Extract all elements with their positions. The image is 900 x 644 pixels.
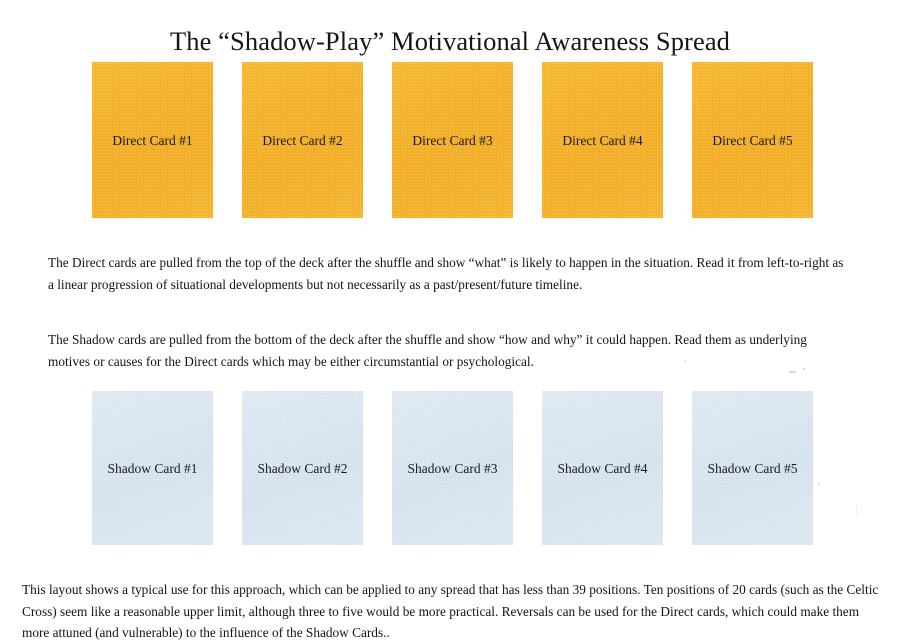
direct-card-3[interactable]: Direct Card #3	[392, 62, 513, 218]
direct-card-5[interactable]: Direct Card #5	[692, 62, 813, 218]
shadow-card-1-label: Shadow Card #1	[108, 460, 198, 477]
document-page: The “Shadow-Play” Motivational Awareness…	[0, 0, 900, 638]
layout-usage-note: This layout shows a typical use for this…	[22, 579, 880, 644]
shadow-card-5[interactable]: Shadow Card #5	[692, 391, 813, 545]
direct-card-1[interactable]: Direct Card #1	[92, 62, 213, 218]
shadow-cards-description: The Shadow cards are pulled from the bot…	[48, 329, 848, 372]
direct-card-2-label: Direct Card #2	[262, 132, 342, 149]
page-title: The “Shadow-Play” Motivational Awareness…	[0, 24, 900, 58]
shadow-card-2[interactable]: Shadow Card #2	[242, 391, 363, 545]
direct-card-3-label: Direct Card #3	[412, 132, 492, 149]
direct-card-2[interactable]: Direct Card #2	[242, 62, 363, 218]
shadow-card-4[interactable]: Shadow Card #4	[542, 391, 663, 545]
shadow-card-4-label: Shadow Card #4	[558, 460, 648, 477]
scan-artifact-speck	[818, 483, 820, 486]
direct-cards-row: Direct Card #1 Direct Card #2 Direct Car…	[92, 62, 813, 218]
shadow-card-5-label: Shadow Card #5	[708, 460, 798, 477]
scan-artifact-speck	[856, 505, 857, 517]
direct-cards-description: The Direct cards are pulled from the top…	[48, 252, 848, 295]
direct-card-4-label: Direct Card #4	[562, 132, 642, 149]
direct-card-4[interactable]: Direct Card #4	[542, 62, 663, 218]
shadow-card-3-label: Shadow Card #3	[408, 460, 498, 477]
direct-card-1-label: Direct Card #1	[112, 132, 192, 149]
shadow-card-2-label: Shadow Card #2	[258, 460, 348, 477]
shadow-cards-row: Shadow Card #1 Shadow Card #2 Shadow Car…	[92, 391, 813, 545]
shadow-card-3[interactable]: Shadow Card #3	[392, 391, 513, 545]
shadow-card-1[interactable]: Shadow Card #1	[92, 391, 213, 545]
direct-card-5-label: Direct Card #5	[712, 132, 792, 149]
